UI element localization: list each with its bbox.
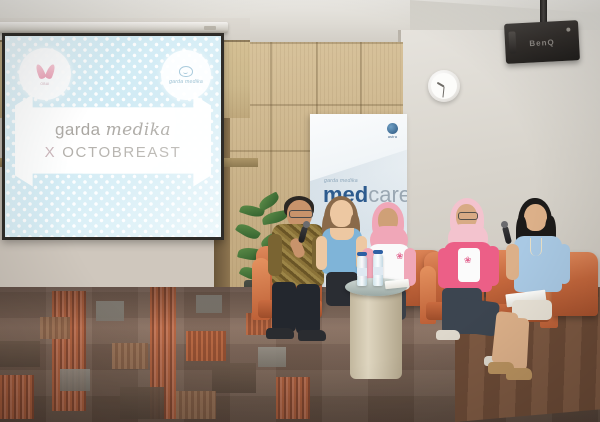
octobreast-petal-logo: OBAI bbox=[19, 48, 71, 100]
pink-ribbon-icon: ❀ bbox=[464, 256, 472, 265]
slide-ribbon-banner: garda medika X OCTOBREAST bbox=[15, 95, 211, 187]
projection-screen-casing bbox=[0, 22, 228, 33]
water-bottle bbox=[357, 256, 367, 286]
slide-subtitle: OCTOBREAST bbox=[62, 145, 181, 160]
projector-led-icon bbox=[566, 28, 570, 32]
slide-cross-mark: X bbox=[45, 145, 57, 160]
projection-screen-surface: OBAI garda medika garda medika X OCTOBRE… bbox=[5, 36, 221, 237]
table-column bbox=[350, 287, 402, 379]
benq-projector: BenQ bbox=[504, 20, 580, 64]
astra-mark-icon bbox=[387, 123, 398, 134]
slide-title-line-2: X OCTOBREAST bbox=[45, 145, 182, 160]
garda-medika-logo-caption: garda medika bbox=[169, 79, 203, 85]
astra-logo-text: astra bbox=[387, 135, 398, 139]
astra-logo: astra bbox=[387, 123, 398, 139]
conference-room-photo: OBAI garda medika garda medika X OCTOBRE… bbox=[0, 0, 600, 422]
slide-title-plain: garda bbox=[55, 120, 106, 139]
necklace bbox=[530, 238, 542, 256]
slide-title-italic: medika bbox=[106, 120, 171, 140]
pink-ribbon-icon: ❀ bbox=[396, 252, 404, 261]
garda-medika-logo: garda medika bbox=[161, 50, 211, 100]
octobreast-logo-caption: OBAI bbox=[40, 82, 49, 86]
water-bottle bbox=[373, 254, 383, 286]
round-side-table bbox=[345, 278, 407, 386]
projector-lens-icon bbox=[508, 31, 516, 53]
projector-mount-pole bbox=[540, 0, 547, 24]
projector-brand-label: BenQ bbox=[529, 38, 555, 48]
projection-screen-frame: OBAI garda medika garda medika X OCTOBRE… bbox=[2, 33, 224, 240]
analog-wall-clock bbox=[428, 70, 460, 102]
petal-icon bbox=[37, 63, 54, 80]
garda-medika-mark-icon bbox=[179, 66, 193, 77]
clock-minute-hand bbox=[442, 87, 444, 98]
slide-title-block: garda medika X OCTOBREAST bbox=[45, 121, 182, 160]
slide-title-line-1: garda medika bbox=[45, 121, 182, 139]
